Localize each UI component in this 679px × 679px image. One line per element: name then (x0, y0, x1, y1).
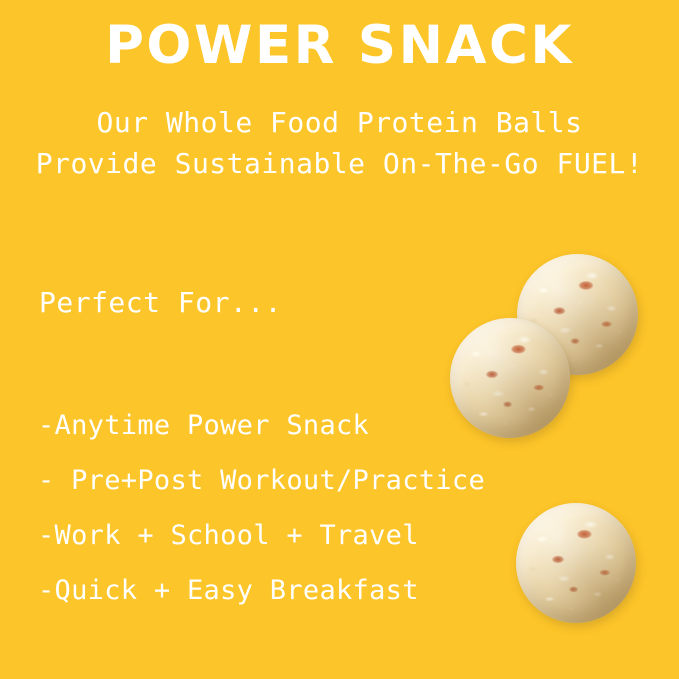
subheadline: Our Whole Food Protein Balls Provide Sus… (0, 103, 679, 184)
page-title: POWER SNACK (0, 18, 679, 74)
ball-shading (516, 503, 636, 623)
list-item: -Work + School + Travel (38, 520, 485, 551)
subheadline-line-1: Our Whole Food Protein Balls (96, 106, 582, 139)
benefits-list: -Anytime Power Snack - Pre+Post Workout/… (38, 410, 485, 630)
product-infographic-poster: POWER SNACK Our Whole Food Protein Balls… (0, 0, 679, 679)
ball-shading (450, 318, 570, 438)
subheadline-line-2: Provide Sustainable On-The-Go FUEL! (0, 144, 679, 185)
section-heading-perfect-for: Perfect For... (39, 286, 282, 319)
protein-ball-image (516, 503, 636, 623)
list-item: - Pre+Post Workout/Practice (38, 465, 485, 496)
list-item: -Quick + Easy Breakfast (38, 575, 485, 606)
list-item: -Anytime Power Snack (38, 410, 485, 441)
protein-ball-image (450, 318, 570, 438)
